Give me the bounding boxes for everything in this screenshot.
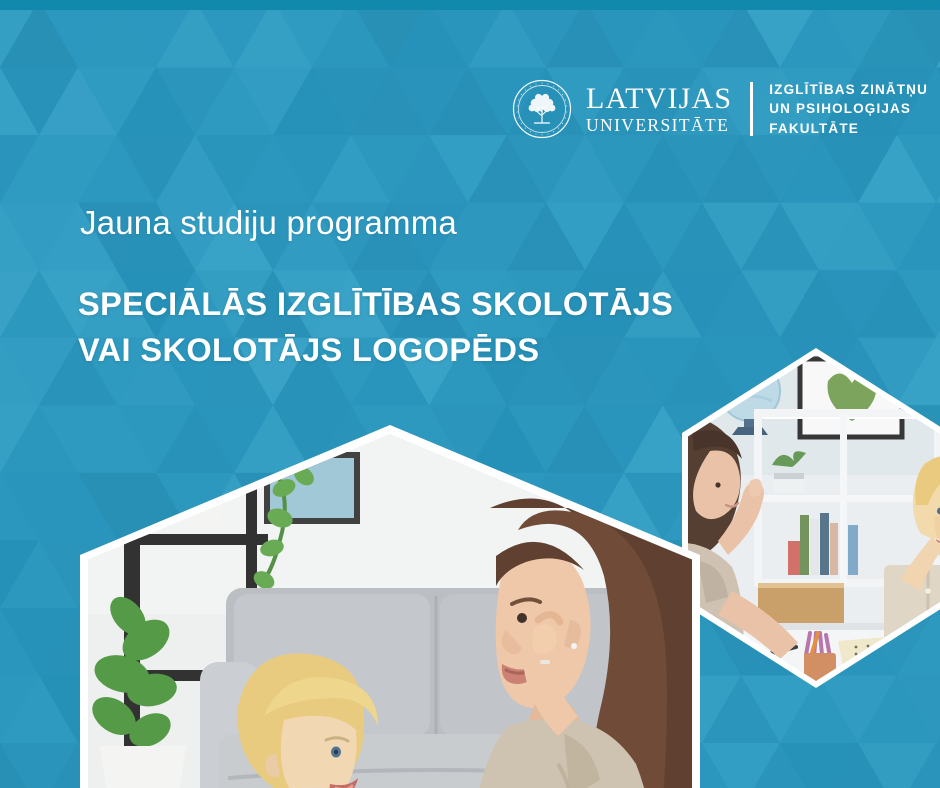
page-title: SPECIĀLĀS IZGLĪTĪBAS SKOLOTĀJS VAI SKOLO… [78, 281, 673, 373]
poster: LATVIJAS UNIVERSITĀTE IZGLĪTĪBAS ZINĀTŅU… [0, 0, 940, 788]
logo-lockup: LATVIJAS UNIVERSITĀTE IZGLĪTĪBAS ZINĀTŅU… [512, 79, 928, 139]
faculty-name: IZGLĪTĪBAS ZINĀTŅU UN PSIHOLOĢIJAS FAKUL… [769, 80, 928, 137]
vertical-divider-icon [750, 82, 753, 136]
university-name-line1: LATVIJAS [586, 84, 732, 114]
university-name-line2: UNIVERSITĀTE [586, 117, 732, 135]
university-wordmark: LATVIJAS UNIVERSITĀTE [586, 84, 732, 135]
university-seal-tree-icon [512, 79, 572, 139]
kicker-text: Jauna studiju programma [80, 204, 457, 242]
top-accent-strip [0, 0, 940, 10]
